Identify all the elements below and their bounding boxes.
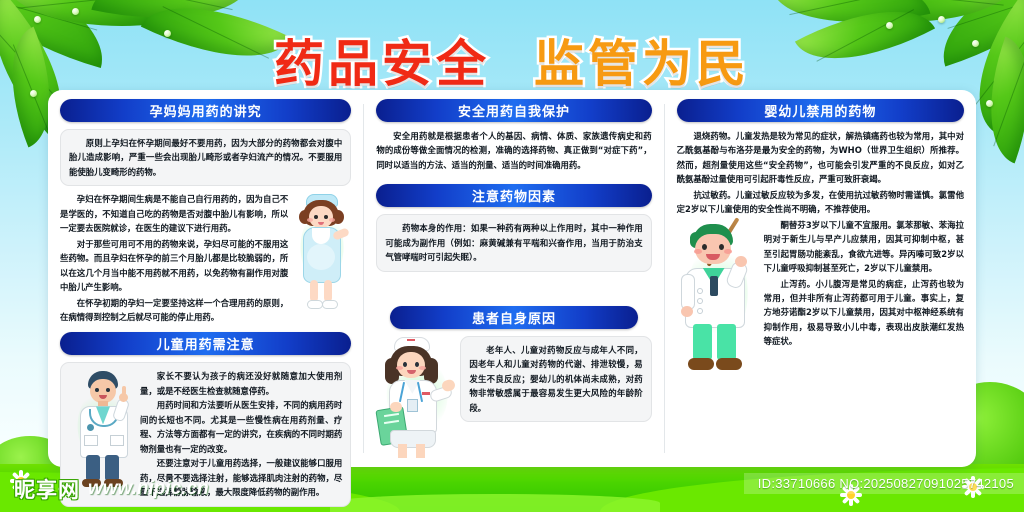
paragraph: 老年人、儿童对药物反应与成年人不同，因老年人和儿童对药物的代谢、排泄较慢，易发生… [469, 343, 642, 415]
image-id-bar: ID:33710666 NO:20250827091025742105 [744, 473, 1024, 494]
grass-hill-center [330, 494, 660, 512]
highlight-box-pregnancy: 原则上孕妇在怀孕期间最好不要用药，因为大部分的药物都会对腹中胎儿造成影响，严重一… [60, 129, 351, 186]
male-doctor-with-pointer-illustration [677, 218, 759, 378]
watermark-url: www.nipic.cn [88, 478, 209, 500]
paragraph: 退烧药物。儿童发热是较为常见的症状，解热镇痛药也较为常用，其中对乙酰氨基酚与布洛… [677, 129, 964, 187]
figure-wrap-pregnant-nurse: 孕妇在怀孕期间生病是不能自己自行用药的，因为自己不是学医的，不知道自己吃的药物是… [60, 192, 351, 325]
content-board: 孕妈妈用药的讲究 原则上孕妇在怀孕期间最好不要用药，因为大部分的药物都会对腹中胎… [48, 90, 976, 467]
watermark: 昵享网 www.nipic.cn [14, 474, 209, 504]
section-header-pregnancy: 孕妈妈用药的讲究 [60, 99, 351, 122]
section-header-children-medication: 儿童用药需注意 [60, 332, 351, 355]
male-doctor-pointing-illustration [69, 369, 135, 489]
dew-drop-icon [938, 16, 945, 23]
section-header-patient-factors: 患者自身原因 [390, 306, 638, 329]
poster-title: 药品安全监管为民 [0, 24, 1024, 96]
paragraph: 药物本身的作用：如果一种药有两种以上作用时，其中一种作用可能成为副作用（例如：麻… [385, 221, 642, 264]
paragraph: 原则上孕妇在怀孕期间最好不要用药，因为大部分的药物都会对腹中胎儿造成影响，严重一… [69, 136, 342, 179]
section-header-infant-banned-drugs: 婴幼儿禁用的药物 [677, 99, 964, 122]
pregnant-nurse-illustration [293, 192, 351, 310]
column-right: 婴幼儿禁用的药物 退烧药物。儿童发热是较为常见的症状，解热镇痛药也较为常用，其中… [665, 90, 976, 467]
highlight-box-patient-factors: 老年人、儿童对药物反应与成年人不同，因老年人和儿童对药物的代谢、排泄较慢，易发生… [460, 336, 651, 422]
column-left: 孕妈妈用药的讲究 原则上孕妇在怀孕期间最好不要用药，因为大部分的药物都会对腹中胎… [48, 90, 363, 467]
title-part-one: 药品安全 [274, 35, 490, 93]
highlight-box-drug-factors: 药物本身的作用：如果一种药有两种以上作用时，其中一种作用可能成为副作用（例如：麻… [376, 214, 651, 271]
section-header-drug-factors: 注意药物因素 [376, 184, 651, 207]
figure-wrap-doctor-pointer: 酮替芬3岁以下儿童不宜服用。氯苯那敏、苯海拉明对于新生儿与早产儿应禁用，因其可抑… [677, 218, 964, 378]
column-middle: 安全用药自我保护 安全用药就是根据患者个人的基因、病情、体质、家族遗传病史和药物… [364, 90, 663, 467]
title-part-two: 监管为民 [534, 35, 750, 93]
paragraph: 抗过敏药。儿童过敏反应较为多发，在使用抗过敏药物时需谨慎。氯雷他定2岁以下儿童使… [677, 188, 964, 217]
dew-drop-icon [986, 100, 993, 107]
watermark-logo: 昵享网 [14, 474, 80, 504]
paragraph: 安全用药就是根据患者个人的基因、病情、体质、家族遗传病史和药物的成份等做全面情况… [376, 129, 651, 172]
section-header-self-protection: 安全用药自我保护 [376, 99, 651, 122]
dew-drop-icon [72, 8, 79, 15]
female-nurse-presenting-illustration [376, 336, 458, 462]
figure-wrap-female-nurse: 老年人、儿童对药物反应与成年人不同，因老年人和儿童对药物的代谢、排泄较慢，易发生… [376, 336, 651, 462]
poster-canvas: 药品安全监管为民 [0, 0, 1024, 512]
dew-drop-icon [34, 16, 41, 23]
